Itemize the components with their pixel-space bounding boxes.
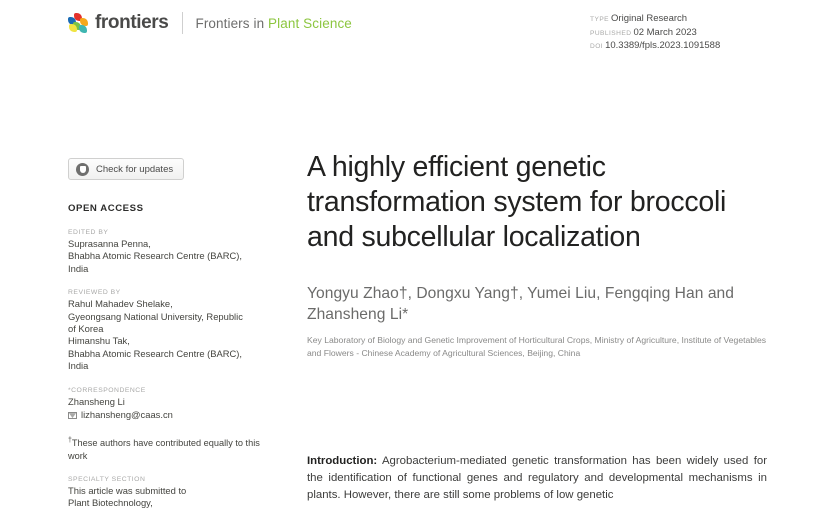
journal-title[interactable]: Frontiers in Plant Science: [195, 16, 351, 31]
article-header: A highly efficient genetic transformatio…: [307, 150, 767, 359]
edited-by-block: EDITED BY Suprasanna Penna, Bhabha Atomi…: [68, 229, 268, 275]
edited-by-label: EDITED BY: [68, 229, 268, 236]
open-access-label: OPEN ACCESS: [68, 203, 268, 214]
check-for-updates-label: Check for updates: [96, 164, 173, 175]
meta-type-value: Original Research: [611, 13, 687, 24]
brand-wordmark[interactable]: frontiers: [95, 12, 168, 34]
reviewed-by-value: Rahul Mahadev Shelake, Gyeongsang Nation…: [68, 298, 268, 372]
page-title: A highly efficient genetic transformatio…: [307, 150, 767, 255]
editorial-sidebar: OPEN ACCESS EDITED BY Suprasanna Penna, …: [68, 203, 268, 524]
meta-published-label: PUBLISHED: [590, 30, 631, 37]
check-for-updates-button[interactable]: Check for updates: [68, 158, 184, 180]
correspondence-email-line[interactable]: lizhansheng@caas.cn: [68, 409, 268, 421]
document-metadata: TYPEOriginal Research PUBLISHED02 March …: [590, 13, 765, 54]
meta-doi-label: DOI: [590, 43, 603, 50]
reviewed-by-block: REVIEWED BY Rahul Mahadev Shelake, Gyeon…: [68, 289, 268, 372]
affiliation-text: Key Laboratory of Biology and Genetic Im…: [307, 334, 767, 359]
meta-doi-row[interactable]: DOI10.3389/fpls.2023.1091588: [590, 40, 765, 54]
journal-name: Plant Science: [268, 16, 352, 31]
meta-type-row: TYPEOriginal Research: [590, 13, 765, 27]
meta-published-row: PUBLISHED02 March 2023: [590, 27, 765, 41]
masthead: frontiers Frontiers in Plant Science: [68, 10, 352, 36]
correspondence-email[interactable]: lizhansheng@caas.cn: [81, 409, 173, 421]
meta-doi-value[interactable]: 10.3389/fpls.2023.1091588: [605, 40, 720, 51]
edited-by-value: Suprasanna Penna, Bhabha Atomic Research…: [68, 238, 268, 275]
crossmark-icon: [76, 163, 89, 176]
correspondence-block: *CORRESPONDENCE Zhansheng Li lizhansheng…: [68, 387, 268, 422]
frontiers-logo-icon[interactable]: [68, 13, 88, 33]
specialty-section-label: SPECIALTY SECTION: [68, 476, 268, 483]
brand-divider: [182, 12, 183, 34]
specialty-section-value: This article was submitted to Plant Biot…: [68, 485, 268, 510]
journal-prefix: Frontiers in: [195, 16, 268, 31]
meta-published-value: 02 March 2023: [633, 27, 696, 38]
envelope-icon: [68, 412, 77, 419]
correspondence-label: *CORRESPONDENCE: [68, 387, 268, 394]
equal-contribution-note: †These authors have contributed equally …: [68, 435, 268, 461]
abstract-heading: Introduction:: [307, 455, 377, 467]
author-list[interactable]: Yongyu Zhao†, Dongxu Yang†, Yumei Liu, F…: [307, 283, 767, 325]
correspondence-name: Zhansheng Li: [68, 396, 268, 408]
equal-contribution-text: These authors have contributed equally t…: [68, 439, 260, 461]
abstract-introduction: Introduction: Agrobacterium-mediated gen…: [307, 453, 767, 505]
specialty-section-block: SPECIALTY SECTION This article was submi…: [68, 476, 268, 510]
meta-type-label: TYPE: [590, 16, 609, 23]
equal-contribution-block: †These authors have contributed equally …: [68, 435, 268, 461]
reviewed-by-label: REVIEWED BY: [68, 289, 268, 296]
